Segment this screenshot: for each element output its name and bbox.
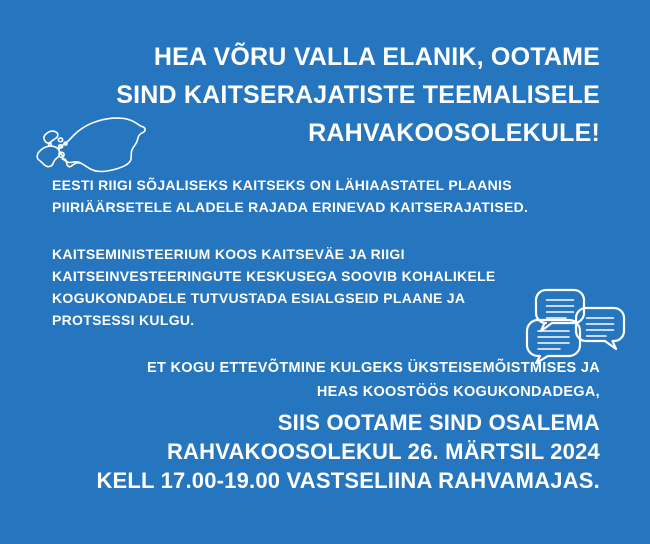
paragraph1-line-2: PIIRIÄÄRSETELE ALADELE RAJADA ERINEVAD K… — [52, 196, 612, 218]
headline-line-1: HEA VÕRU VALLA ELANIK, OOTAME — [50, 38, 600, 76]
paragraph2-line-2: KAITSEINVESTEERINGUTE KESKUSEGA SOOVIB K… — [52, 265, 612, 287]
paragraph2-line-4: PROTSESSI KULGU. — [52, 309, 612, 331]
headline-line-2: SIND KAITSERAJATISTE TEEMALISELE — [50, 76, 600, 114]
poster-canvas: HEA VÕRU VALLA ELANIK, OOTAME SIND KAITS… — [0, 0, 650, 544]
closing-line-3: SIIS OOTAME SIND OSALEMA — [40, 408, 600, 437]
closing-line-4-date: RAHVAKOOSOLEKUL 26. MÄRTSIL 2024 — [40, 437, 600, 466]
paragraph2-line-3: KOGUKONDADELE TUTVUSTADA ESIALGSEID PLAA… — [52, 287, 612, 309]
paragraph-defence-plans: EESTI RIIGI SÕJALISEKS KAITSEKS ON LÄHIA… — [52, 174, 612, 218]
paragraph-ministry-intro: KAITSEMINISTEERIUM KOOS KAITSEVÄE JA RII… — [52, 243, 612, 331]
closing-line-1: ET KOGU ETTEVÕTMINE KULGEKS ÜKSTEISEMÕIS… — [40, 356, 600, 380]
invitation-block: ET KOGU ETTEVÕTMINE KULGEKS ÜKSTEISEMÕIS… — [40, 356, 600, 495]
headline-line-3: RAHVAKOOSOLEKULE! — [50, 114, 600, 152]
closing-line-5-time-venue: KELL 17.00-19.00 VASTSELIINA RAHVAMAJAS. — [40, 466, 600, 495]
paragraph2-line-1: KAITSEMINISTEERIUM KOOS KAITSEVÄE JA RII… — [52, 243, 612, 265]
paragraph1-line-1: EESTI RIIGI SÕJALISEKS KAITSEKS ON LÄHIA… — [52, 174, 612, 196]
closing-line-2: HEAS KOOSTÖÖS KOGUKONDADEGA, — [40, 380, 600, 404]
poster-headline: HEA VÕRU VALLA ELANIK, OOTAME SIND KAITS… — [50, 38, 600, 152]
